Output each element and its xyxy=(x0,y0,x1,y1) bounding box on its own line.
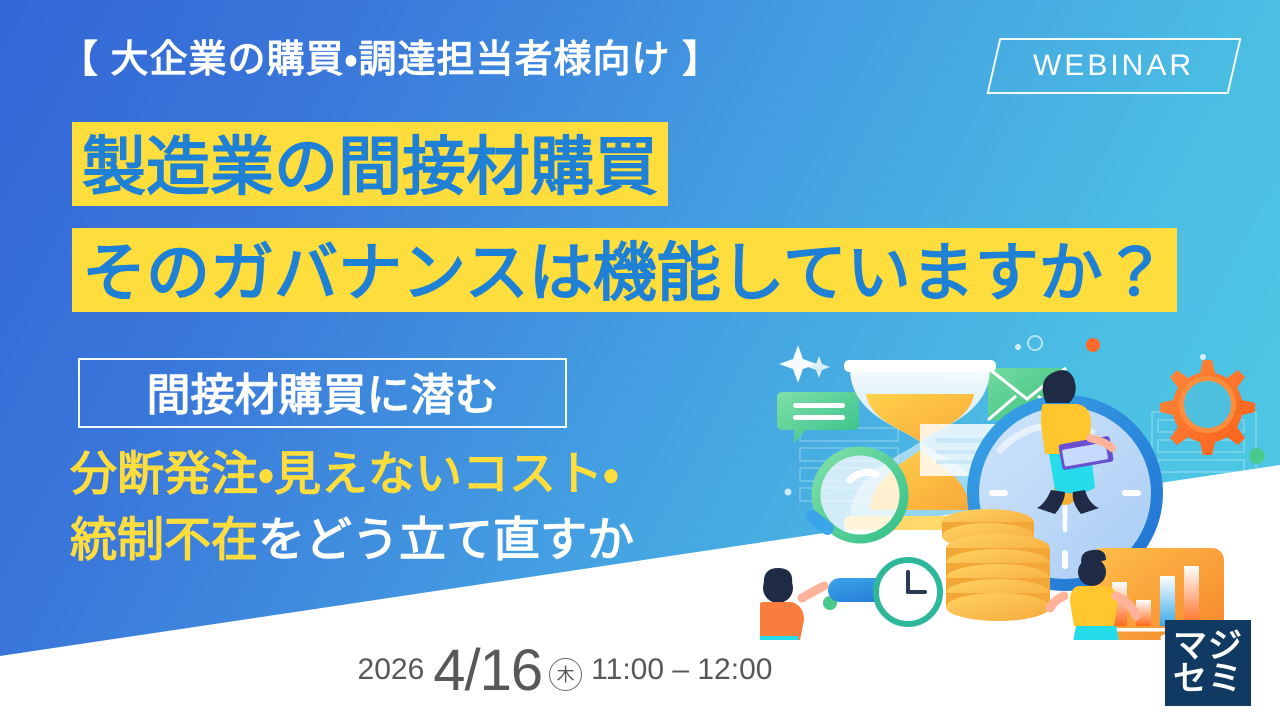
subheading-box: 間接材購買に潜む xyxy=(78,358,567,428)
magnifying-glass-icon xyxy=(803,451,904,539)
headline-bar-2: そのガバナンスは機能していますか？ xyxy=(72,228,1177,312)
person-with-magnifier xyxy=(760,568,824,640)
chat-bubble-icon xyxy=(777,392,859,443)
kicker-text: 【 大企業の購買・調達担当者様向け 】 xyxy=(60,40,721,82)
date-day-of-week: 木 xyxy=(549,658,582,691)
emphasis-line-2-rest: をどう立て直すか xyxy=(258,513,634,566)
emphasis-line-2: 統制不在をどう立て直すか xyxy=(70,516,634,563)
small-gear-outline-icon xyxy=(1028,336,1042,350)
majisemi-logo: マジ セミ xyxy=(1165,620,1251,706)
webinar-badge-label: WEBINAR xyxy=(1033,51,1194,81)
webinar-badge: WEBINAR xyxy=(987,38,1242,94)
headline-text-2: そのガバナンスは機能していますか？ xyxy=(82,222,1167,314)
logo-line-2: セミ xyxy=(1173,663,1243,696)
date-year: 2026 xyxy=(358,653,425,687)
small-clock-icon xyxy=(828,560,940,624)
subheading-text: 間接材購買に潜む xyxy=(147,359,499,423)
headline-text-1: 製造業の間接材購買 xyxy=(82,116,658,208)
logo-line-1: マジ xyxy=(1173,630,1243,663)
coin-stack-icon xyxy=(942,509,1050,621)
illustration-artwork xyxy=(760,320,1280,640)
sparkle-icon xyxy=(779,345,830,383)
headline-bar-1: 製造業の間接材購買 xyxy=(72,122,668,206)
emphasis-line-1: 分断発注・見えないコスト・ xyxy=(70,450,619,497)
emphasis-line-1-text: 分断発注・見えないコスト・ xyxy=(70,447,619,500)
webinar-banner: 【 大企業の購買・調達担当者様向け 】 WEBINAR 製造業の間接材購買 その… xyxy=(0,0,1280,720)
date-month-day: 4/16 xyxy=(433,637,542,704)
orange-dot xyxy=(1086,338,1100,352)
date-time-line: 2026 4/16 木 11:00 – 12:00 xyxy=(0,640,1130,700)
date-time-range: 11:00 – 12:00 xyxy=(591,653,772,687)
gear-accent-dot xyxy=(1249,448,1265,464)
gear-icon xyxy=(1160,360,1255,455)
emphasis-line-2-highlight: 統制不在 xyxy=(70,513,258,566)
